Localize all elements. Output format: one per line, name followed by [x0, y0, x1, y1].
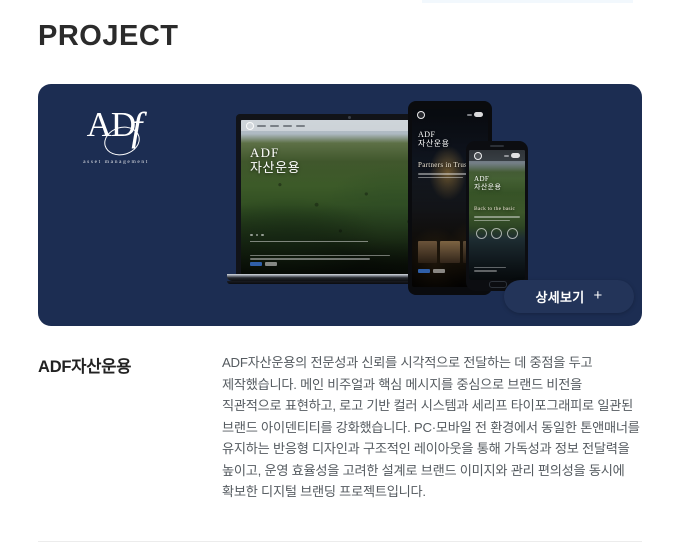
nav-logo-icon [417, 111, 425, 119]
phone-speaker-icon [490, 145, 504, 147]
top-sliver-left [422, 0, 550, 3]
nav-logo-icon [474, 152, 482, 160]
laptop-cta-chips [250, 262, 277, 266]
laptop-body-copy [250, 255, 390, 260]
phone-feature-icons [474, 228, 520, 239]
project-description-body: ADF자산운용의 전문성과 신뢰를 시각적으로 전달하는 데 중점을 두고 제작… [222, 352, 642, 503]
phone-subhead: Back to the basic [474, 206, 515, 212]
lake-landscape-image [469, 150, 525, 280]
brand-logo-mark: ADf [87, 103, 146, 157]
brand-logo-tagline: asset management [68, 159, 164, 165]
page-title: PROJECT [38, 20, 178, 53]
phone-hero-heading: ADF 자산운용 [474, 176, 501, 192]
phone-footer-copy [474, 267, 520, 272]
nav-utility-icons [467, 112, 483, 117]
detail-view-button-label: 상세보기 [535, 287, 584, 306]
laptop-hero-heading: ADF 자산운용 [250, 146, 300, 175]
phone-screen-content: ADF 자산운용 Back to the basic [469, 150, 525, 280]
laptop-hero-line1: ADF [250, 146, 300, 161]
nav-utility-icons [504, 153, 520, 158]
tablet-hero-line2: 자산운용 [418, 140, 449, 149]
tablet-subhead: Partners in Trust [418, 161, 469, 169]
top-sliver-right [545, 0, 633, 3]
project-card[interactable]: ADf asset management ADF 자산운용 [38, 84, 642, 326]
phone-site-nav [469, 150, 525, 161]
nav-logo-icon [246, 122, 254, 130]
phone-device: ADF 자산운용 Back to the basic [466, 141, 528, 291]
phone-home-button-icon [489, 281, 507, 288]
tablet-cta-chips [418, 269, 445, 273]
project-description: ADF자산운용 ADF자산운용의 전문성과 신뢰를 시각적으로 전달하는 데 중… [38, 352, 642, 503]
laptop-camera-icon [348, 116, 351, 119]
phone-body-copy [474, 216, 520, 221]
laptop-hero-line2: 자산운용 [250, 161, 300, 176]
tablet-hero-heading: ADF 자산운용 [418, 131, 449, 149]
laptop-slider-dots [250, 234, 264, 237]
bottom-divider [38, 541, 642, 542]
phone-hero-line2: 자산운용 [474, 184, 501, 192]
plus-icon: + [593, 288, 602, 303]
adf-brand-logo: ADf asset management [68, 103, 164, 165]
detail-view-button[interactable]: 상세보기 + [504, 280, 634, 313]
laptop-hero-rule [250, 241, 368, 242]
project-name: ADF자산운용 [38, 352, 222, 377]
tablet-site-nav [412, 109, 488, 120]
